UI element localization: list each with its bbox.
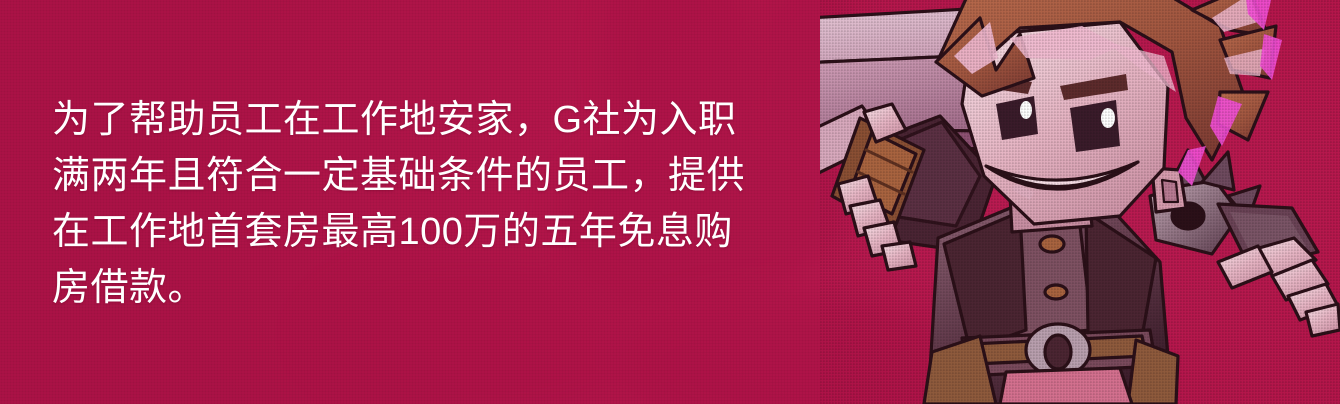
character-illustration <box>820 0 1340 404</box>
banner-body-text: 为了帮助员工在工作地安家，G社为入职 满两年且符合一定基础条件的员工，提供 在工… <box>52 92 792 316</box>
promo-banner: 为了帮助员工在工作地安家，G社为入职 满两年且符合一定基础条件的员工，提供 在工… <box>0 0 1340 404</box>
